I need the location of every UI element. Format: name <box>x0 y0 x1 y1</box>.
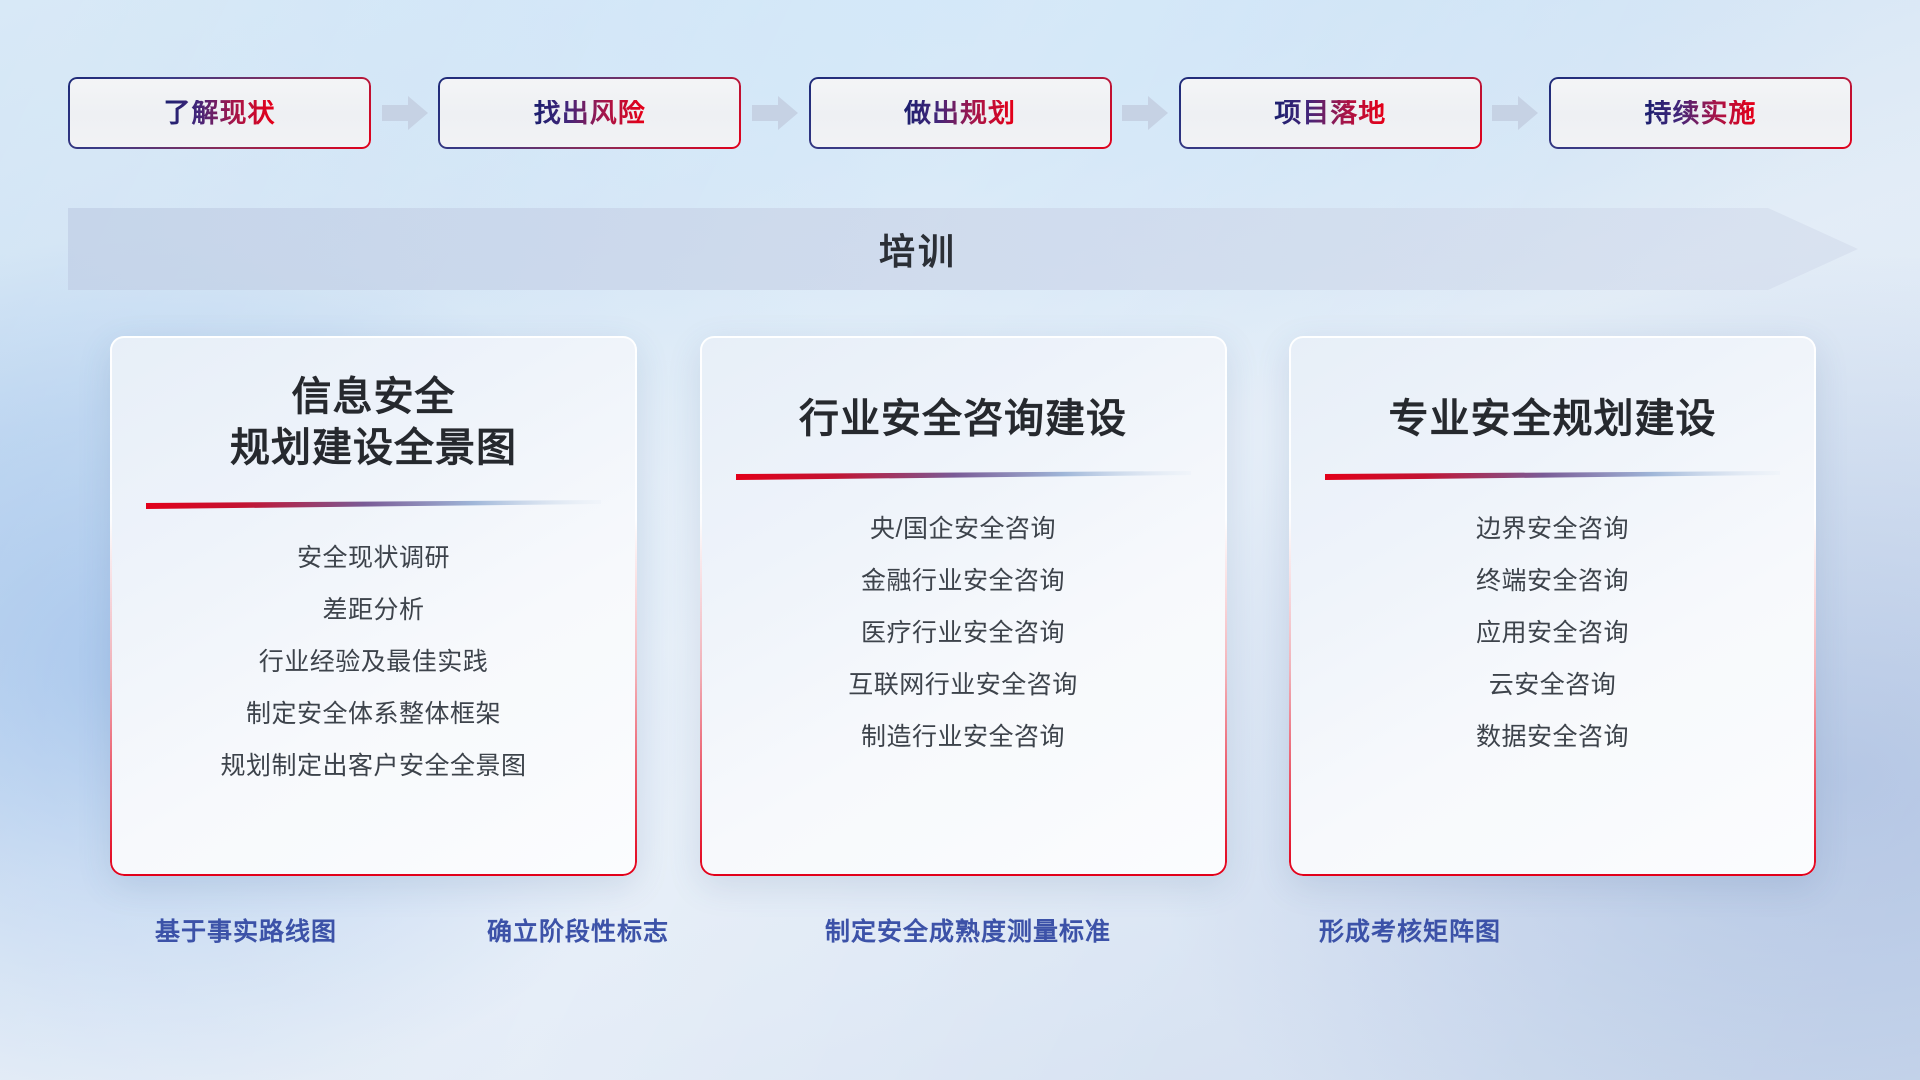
card-industry-security-consulting[interactable]: 行业安全咨询建设 央/国企安全咨询 <box>700 336 1227 876</box>
step-box-1[interactable]: 了解现状 <box>68 77 371 149</box>
list-item: 金融行业安全咨询 <box>861 560 1065 603</box>
card-title-3: 专业安全规划建设 <box>1389 372 1717 445</box>
step-arrow-4 <box>1482 96 1549 130</box>
list-item: 安全现状调研 <box>297 537 450 580</box>
step-label-2: 找出风险 <box>534 100 646 127</box>
arrow-right-icon <box>1122 96 1168 130</box>
card-divider-1 <box>146 500 601 509</box>
card-list-1: 安全现状调研 差距分析 行业经验及最佳实践 制定安全体系整体框架 规划制定出客户… <box>136 537 611 788</box>
gradient-rule-icon <box>146 500 601 509</box>
list-item: 应用安全咨询 <box>1476 612 1629 655</box>
caption-milestones: 确立阶段性标志 <box>487 912 669 948</box>
step-label-1: 了解现状 <box>164 100 276 127</box>
training-band: 培训 <box>68 208 1858 290</box>
step-box-3[interactable]: 做出规划 <box>809 77 1112 149</box>
list-item: 医疗行业安全咨询 <box>861 612 1065 655</box>
card-divider-2 <box>736 471 1191 480</box>
list-item: 云安全咨询 <box>1489 664 1617 707</box>
step-arrow-3 <box>1112 96 1179 130</box>
card-professional-security-planning[interactable]: 专业安全规划建设 边界安全咨询 <box>1289 336 1816 876</box>
arrow-right-icon <box>1492 96 1538 130</box>
arrow-right-icon <box>752 96 798 130</box>
list-item: 行业经验及最佳实践 <box>259 641 489 684</box>
band-title: 培训 <box>68 208 1768 290</box>
list-item: 边界安全咨询 <box>1476 508 1629 551</box>
card-title-1: 信息安全 规划建设全景图 <box>230 372 517 474</box>
list-item: 数据安全咨询 <box>1476 716 1629 759</box>
caption-maturity: 制定安全成熟度测量标准 <box>825 912 1111 948</box>
step-arrow-1 <box>371 96 438 130</box>
list-item: 制定安全体系整体框架 <box>246 693 501 736</box>
step-label-4: 项目落地 <box>1274 100 1386 127</box>
list-item: 制造行业安全咨询 <box>861 716 1065 759</box>
step-box-4[interactable]: 项目落地 <box>1179 77 1482 149</box>
step-label-3: 做出规划 <box>904 100 1016 127</box>
card-row: 信息安全 规划建设全景图 安全现状调研 <box>110 336 1816 876</box>
card-title-2: 行业安全咨询建设 <box>799 372 1127 445</box>
list-item: 互联网行业安全咨询 <box>848 664 1078 707</box>
caption-row: 基于事实路线图 确立阶段性标志 制定安全成熟度测量标准 形成考核矩阵图 <box>0 912 1920 956</box>
slide-canvas: 了解现状 找出风险 做出规划 项目落地 <box>0 0 1920 1080</box>
caption-matrix: 形成考核矩阵图 <box>1319 912 1501 948</box>
caption-roadmap: 基于事实路线图 <box>155 912 337 948</box>
gradient-rule-icon <box>1325 471 1780 480</box>
arrow-right-icon <box>382 96 428 130</box>
step-box-5[interactable]: 持续实施 <box>1549 77 1852 149</box>
card-divider-3 <box>1325 471 1780 480</box>
process-step-row: 了解现状 找出风险 做出规划 项目落地 <box>68 76 1852 150</box>
list-item: 差距分析 <box>322 589 424 632</box>
step-box-2[interactable]: 找出风险 <box>438 77 741 149</box>
list-item: 央/国企安全咨询 <box>870 508 1056 551</box>
list-item: 规划制定出客户安全全景图 <box>220 745 526 788</box>
list-item: 终端安全咨询 <box>1476 560 1629 603</box>
card-list-3: 边界安全咨询 终端安全咨询 应用安全咨询 云安全咨询 数据安全咨询 <box>1315 508 1790 759</box>
step-label-5: 持续实施 <box>1645 100 1757 127</box>
card-information-security-blueprint[interactable]: 信息安全 规划建设全景图 安全现状调研 <box>110 336 637 876</box>
gradient-rule-icon <box>736 471 1191 480</box>
card-list-2: 央/国企安全咨询 金融行业安全咨询 医疗行业安全咨询 互联网行业安全咨询 制造行… <box>726 508 1201 759</box>
step-arrow-2 <box>741 96 808 130</box>
